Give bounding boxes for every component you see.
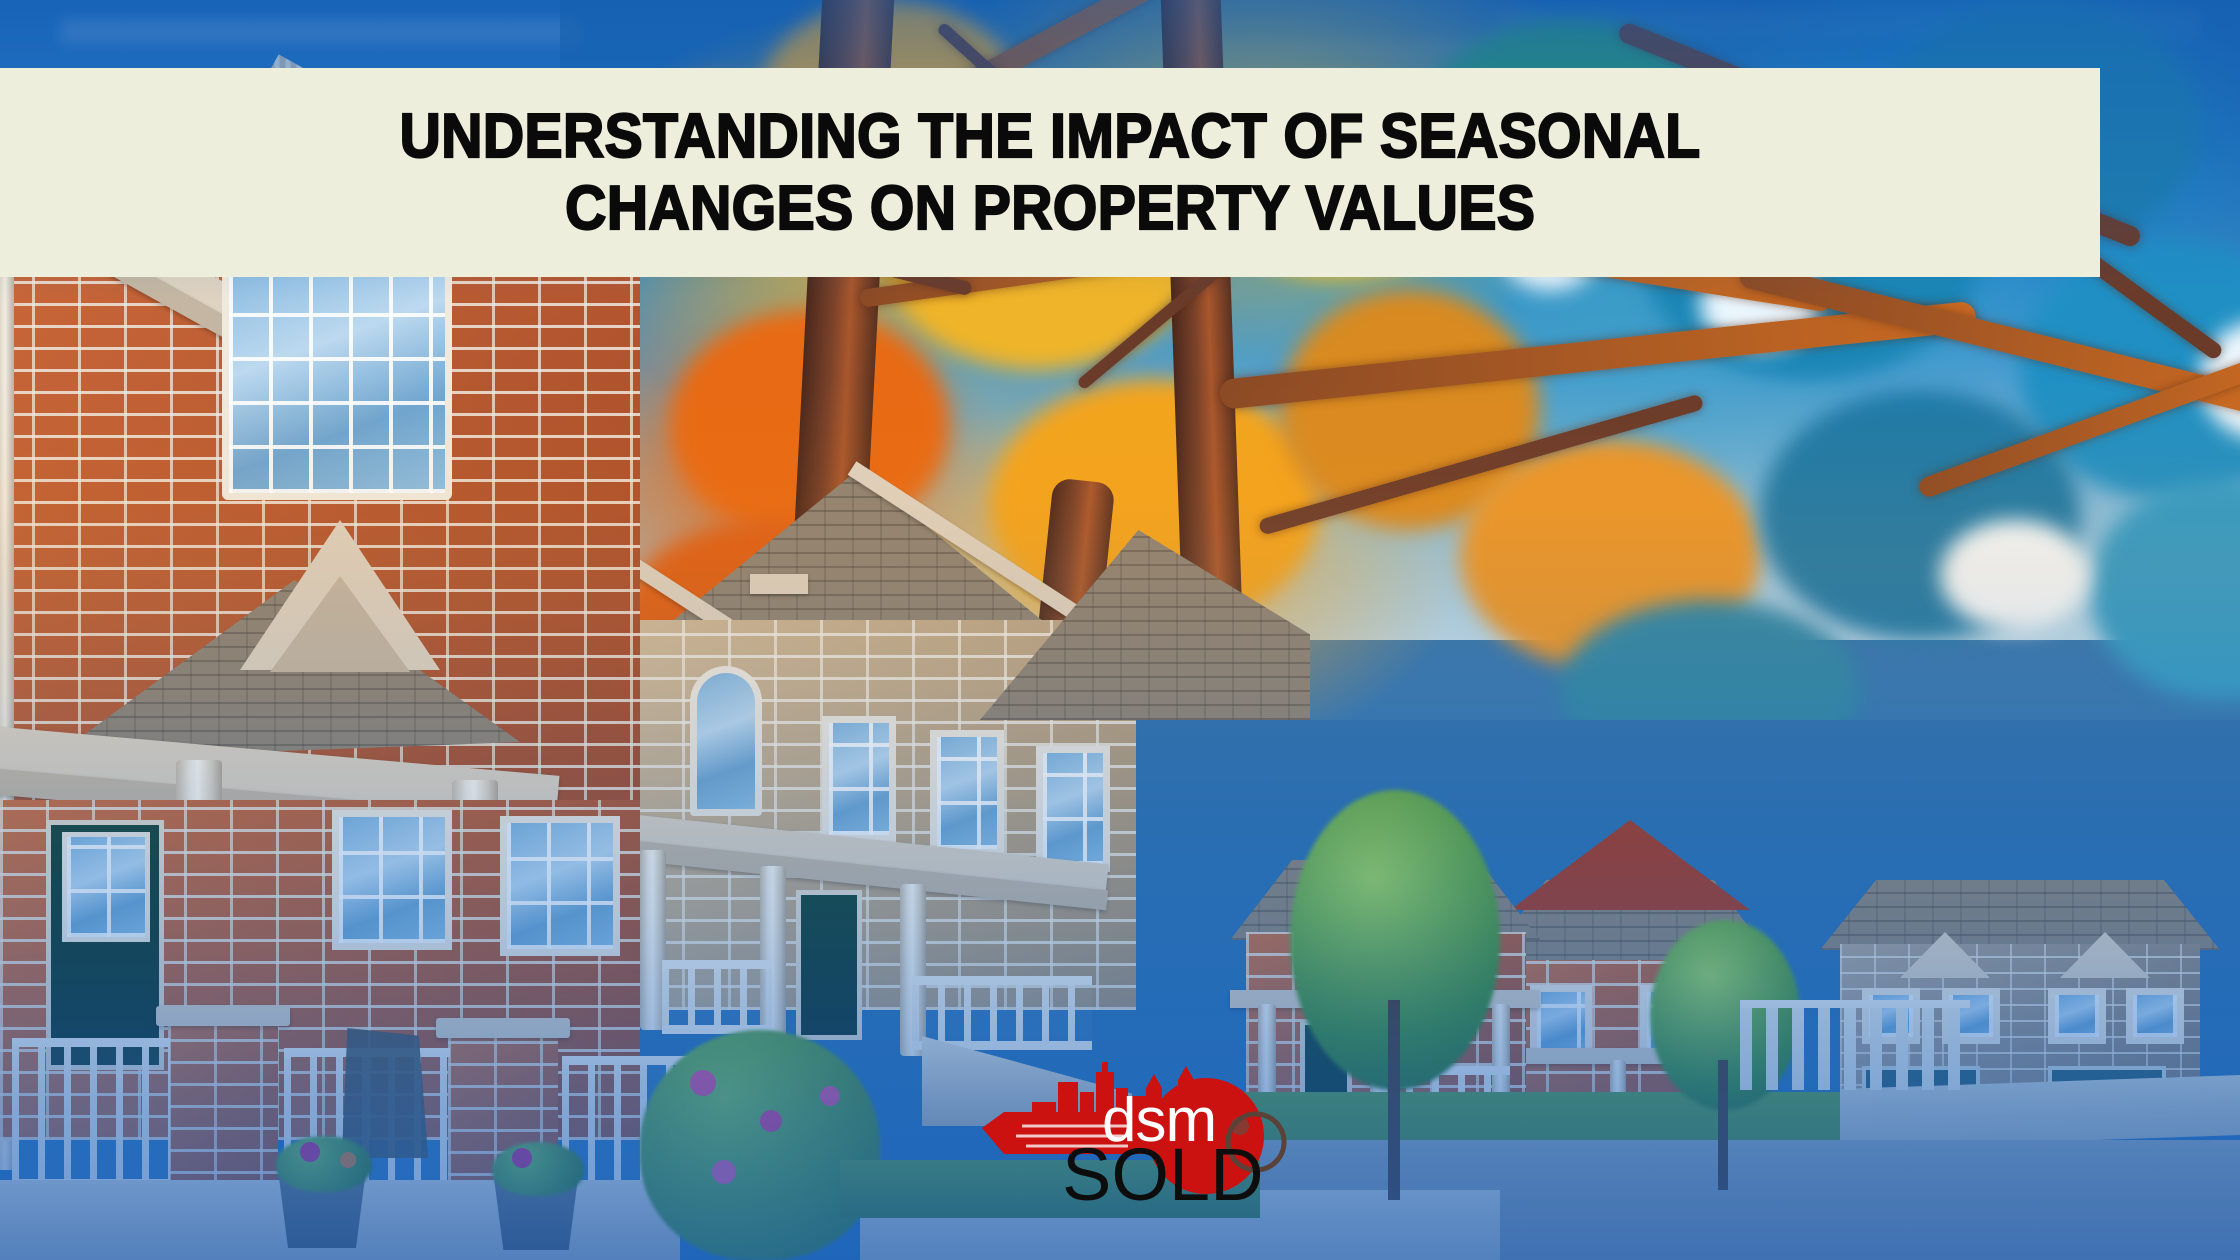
tree-trunk (1388, 1000, 1400, 1200)
headline-banner: Understanding the Impact of Seasonal Cha… (0, 68, 2100, 277)
tan-brick-house-center (600, 470, 1320, 1120)
upper-window (222, 240, 452, 500)
logo-wordmark-sold: SOLD (1062, 1138, 1264, 1212)
flower (300, 1142, 320, 1162)
flower (340, 1152, 356, 1168)
patio-chair (338, 1028, 432, 1158)
poster-canvas: Understanding the Impact of Seasonal Cha… (0, 0, 2240, 1260)
red-roof (1510, 820, 1750, 910)
arched-window (690, 666, 762, 816)
flower (512, 1148, 532, 1168)
dsm-sold-logo[interactable]: dsm SOLD (978, 1058, 1298, 1208)
headline-line-1: Understanding the Impact of Seasonal (399, 101, 1700, 173)
tree-trunk (1718, 1060, 1728, 1190)
headline-line-2: Changes on Property Values (565, 173, 1535, 245)
picket-fence (1740, 1000, 1970, 1090)
flowering-shrub (640, 1030, 880, 1260)
